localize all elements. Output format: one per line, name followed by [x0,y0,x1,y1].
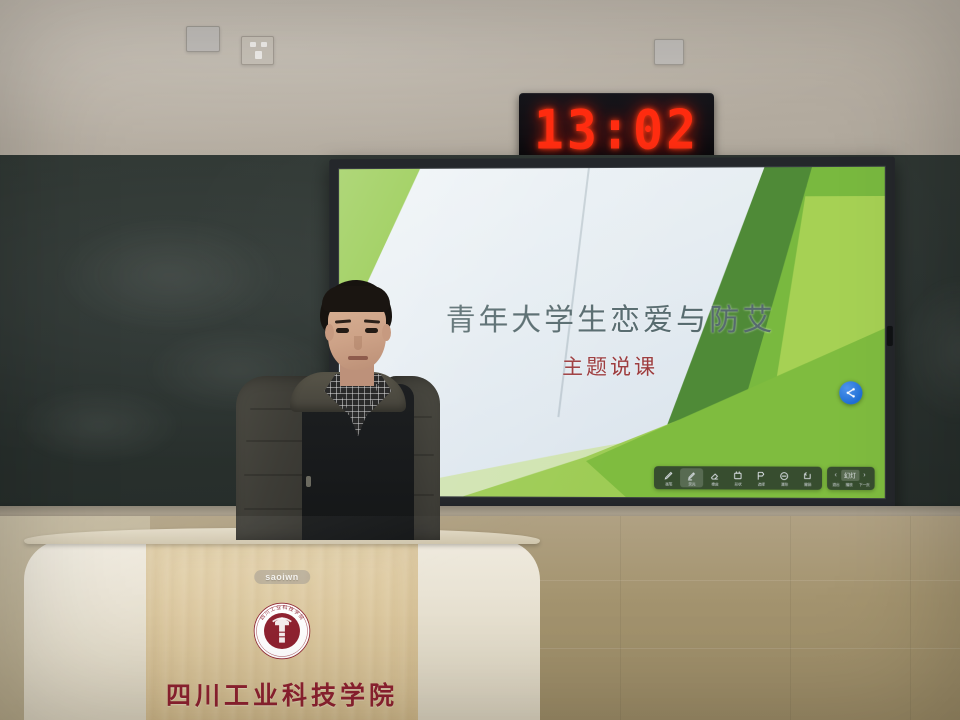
shape-icon [733,470,744,481]
classroom-photo: 13:02 青年大学生恋爱与防艾 主题说课 [0,0,960,720]
undo-icon [802,471,813,482]
bezel-sensor-icon [887,326,893,346]
clear-icon [779,471,790,482]
zipper-pull [306,476,311,487]
eraser-tool-label: 橡皮 [712,483,719,487]
blank-switch-plate[interactable] [186,26,220,52]
podium-side-left [24,540,150,720]
highlighter-tool[interactable]: 荧光 [680,468,703,487]
pen-tool-label: 画笔 [665,482,672,486]
undo-tool[interactable]: 撤销 [796,469,819,488]
pen-tool[interactable]: 画笔 [657,468,680,487]
pen-icon [663,470,674,481]
podium-side-right [414,540,540,720]
select-tool-label: 选择 [758,483,765,487]
next-slide-button[interactable]: 下一页 [858,483,869,487]
clock-time: 13:02 [534,98,700,161]
shape-tool[interactable]: 形状 [727,468,750,487]
eye-left [336,328,349,333]
exit-button[interactable]: 退出 [833,483,840,487]
clear-tool-label: 清除 [781,483,788,487]
power-outlet-plate[interactable] [241,36,274,65]
podium-brand-badge: saoiwn [254,570,310,584]
select-icon [756,471,767,482]
upper-right-plate[interactable] [654,39,684,65]
eraser-tool[interactable]: 橡皮 [704,468,727,487]
ear-left [325,324,334,341]
sichuan-institute-emblem: 四川工业科技学院 [253,602,311,660]
clear-tool[interactable]: 清除 [773,469,796,488]
next-page-button[interactable]: › [861,471,867,480]
share-icon [844,386,857,399]
play-button[interactable]: 播放 [846,483,853,487]
shape-tool-label: 形状 [735,483,742,487]
eraser-icon [710,470,721,481]
lectern-podium: saoiwn 四川工业科技学院 四川工业科技学院 [24,528,540,720]
ear-right [382,324,391,341]
page-nav-subrow[interactable]: 退出 播放 下一页 [833,483,870,487]
mouth [348,356,368,360]
nose [354,336,362,350]
highlighter-tool-label: 荧光 [688,482,695,486]
tool-group-navigation[interactable]: ‹ 幻灯 › 退出 播放 下一页 [827,467,874,490]
upper-wall [0,0,960,170]
page-nav-row[interactable]: ‹ 幻灯 › [833,470,870,481]
page-indicator: 幻灯 [841,470,859,481]
podium-front-panel: saoiwn 四川工业科技学院 四川工业科技学院 [146,540,418,720]
tool-group-drawing[interactable]: 画笔 荧光 橡皮 [654,466,822,490]
undo-tool-label: 撤销 [804,483,811,487]
presenter [230,280,440,540]
prev-page-button[interactable]: ‹ [833,471,839,480]
marker-icon [686,470,697,481]
select-tool[interactable]: 选择 [750,468,773,487]
floating-action-button[interactable] [839,381,862,404]
institution-name: 四川工业科技学院 [166,676,398,712]
eye-right [365,328,378,333]
annotation-toolbar[interactable]: 画笔 荧光 橡皮 [654,466,874,490]
hair-fringe [322,286,390,312]
